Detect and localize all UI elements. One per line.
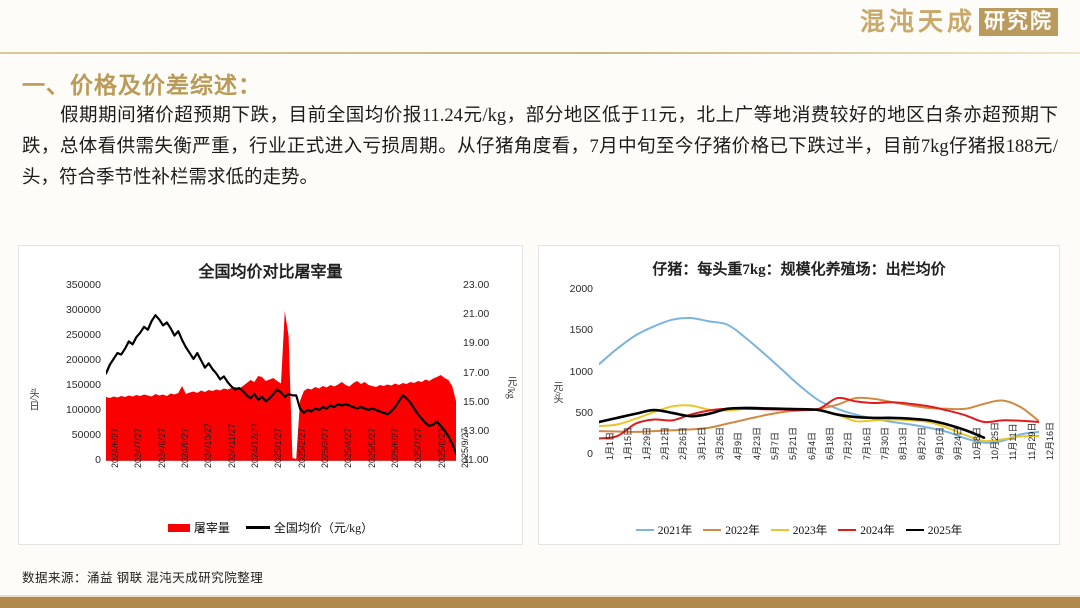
y-tick-label: 2000 (555, 283, 593, 295)
header-divider (0, 52, 1080, 54)
x-tick-label: 3月26日 (713, 427, 726, 460)
y-tick-label: 0 (39, 454, 101, 466)
chart-left-y-axis-label: 头/日 (25, 388, 40, 411)
x-tick-label: 2024/8/27 (157, 428, 167, 468)
x-tick-label: 7月30日 (878, 427, 891, 460)
legend-item-2025年: 2025年 (906, 522, 963, 538)
legend-label-2025年: 2025年 (928, 522, 963, 538)
legend-item-2023年: 2023年 (771, 522, 828, 538)
y-tick-label: 50000 (39, 429, 101, 441)
legend-label-2023年: 2023年 (793, 522, 828, 538)
logo-main-text: 混沌天成 (860, 10, 976, 35)
y-tick-label: 150000 (39, 379, 101, 391)
x-tick-label: 4月9日 (731, 432, 744, 460)
logo-seal-text: 研究院 (979, 8, 1058, 36)
x-tick-label: 2月26日 (676, 427, 689, 460)
y-tick-label: 500 (555, 407, 593, 419)
x-tick-label: 1月1日 (603, 432, 616, 460)
chart-national-avg-vs-slaughter: 全国均价对比屠宰量 头/日 元/kg 050000100000150000200… (18, 245, 523, 545)
legend-swatch-2023年 (771, 529, 789, 532)
chart-right-y-axis-label: 元/头 (549, 381, 564, 404)
y-tick-label: 250000 (39, 329, 101, 341)
x-tick-label: 2024/6/27 (110, 428, 120, 468)
x-tick-label: 9月10日 (933, 427, 946, 460)
x-tick-label: 9月24日 (951, 427, 964, 460)
x-tick-label: 5月7日 (768, 432, 781, 460)
y-tick-label: 1500 (555, 324, 593, 336)
x-tick-label: 2024/11/27 (227, 424, 237, 468)
x-tick-label: 2024/9/27 (180, 428, 190, 468)
x-tick-label: 10月8日 (970, 427, 983, 460)
x-tick-label: 2025/4/27 (343, 428, 353, 468)
y-tick-label: 0 (555, 448, 593, 460)
x-tick-label: 4月23日 (750, 427, 763, 460)
x-tick-label: 1月15日 (621, 427, 634, 460)
legend-label-avg-price: 全国均价（元/kg） (274, 519, 373, 536)
chart-right-legend: 2021年2022年2023年2024年2025年 (539, 522, 1059, 538)
footer-band (0, 597, 1080, 608)
legend-swatch-2022年 (703, 529, 721, 532)
legend-item-2024年: 2024年 (838, 522, 895, 538)
y-tick-label: 350000 (39, 279, 101, 291)
legend-swatch-slaughter (168, 524, 190, 532)
x-tick-label: 2025/8/27 (437, 428, 447, 468)
x-tick-label: 3月12日 (695, 427, 708, 460)
page-title: 一、价格及价差综述： (22, 66, 262, 100)
x-tick-label: 2025/9/27 (460, 428, 470, 468)
x-tick-label: 11月11日 (1006, 423, 1019, 460)
x-tick-label: 2025/6/27 (390, 428, 400, 468)
x-tick-label: 7月2日 (841, 432, 854, 460)
x-tick-label: 6月18日 (823, 427, 836, 460)
source-note: 数据来源：涌益 钢联 混沌天成研究院整理 (22, 567, 263, 586)
chart-piglet-price: 仔猪：每头重7kg：规模化养殖场：出栏均价 元/头 05001000150020… (538, 245, 1060, 545)
legend-item-slaughter: 屠宰量 (168, 519, 230, 536)
x-tick-label: 2月12日 (658, 427, 671, 460)
legend-swatch-2021年 (636, 529, 654, 532)
y-tick-label: 200000 (39, 354, 101, 366)
x-tick-label: 5月21日 (786, 427, 799, 460)
x-tick-label: 8月13日 (896, 427, 909, 460)
y2-tick-label: 17.00 (463, 367, 489, 379)
chart-right-title: 仔猪：每头重7kg：规模化养殖场：出栏均价 (539, 258, 1059, 279)
x-tick-label: 8月27日 (915, 427, 928, 460)
x-tick-label: 1月29日 (640, 427, 653, 460)
legend-label-slaughter: 屠宰量 (194, 519, 230, 536)
legend-label-2021年: 2021年 (658, 522, 693, 538)
legend-item-2022年: 2022年 (703, 522, 760, 538)
brand-logo: 混沌天成 研究院 (860, 8, 1058, 36)
legend-swatch-2024年 (838, 529, 856, 532)
x-tick-label: 7月16日 (860, 427, 873, 460)
chart-left-y2-axis-label: 元/kg (503, 376, 518, 399)
chart-left-legend: 屠宰量 全国均价（元/kg） (19, 519, 522, 536)
summary-paragraph: 假期期间猪价超预期下跌，目前全国均价报11.24元/kg，部分地区低于11元，北… (22, 101, 1058, 194)
legend-swatch-2025年 (906, 529, 924, 532)
y-tick-label: 100000 (39, 404, 101, 416)
y2-tick-label: 21.00 (463, 308, 489, 320)
x-tick-label: 2024/12/27 (250, 423, 260, 468)
legend-label-2024年: 2024年 (860, 522, 895, 538)
x-tick-label: 2025/2/27 (297, 428, 307, 468)
x-tick-label: 10月25日 (988, 422, 1001, 460)
y2-tick-label: 23.00 (463, 279, 489, 291)
x-tick-label: 6月4日 (805, 432, 818, 460)
legend-label-2022年: 2022年 (725, 522, 760, 538)
x-tick-label: 11月29日 (1025, 423, 1038, 460)
x-tick-label: 2025/7/27 (413, 428, 423, 468)
x-tick-label: 2024/10/27 (203, 423, 213, 468)
x-tick-label: 2024/7/27 (133, 428, 143, 468)
x-tick-label: 12月16日 (1043, 422, 1056, 460)
x-tick-label: 2025/5/27 (367, 428, 377, 468)
page-header: 混沌天成 研究院 (0, 0, 1080, 48)
x-tick-label: 2025/1/27 (273, 428, 283, 468)
y-tick-label: 300000 (39, 304, 101, 316)
legend-swatch-avg-price (246, 526, 270, 529)
y2-tick-label: 15.00 (463, 396, 489, 408)
legend-item-avg-price: 全国均价（元/kg） (246, 519, 373, 536)
y2-tick-label: 19.00 (463, 337, 489, 349)
y-tick-label: 1000 (555, 366, 593, 378)
x-tick-label: 2025/3/27 (320, 428, 330, 468)
legend-item-2021年: 2021年 (636, 522, 693, 538)
